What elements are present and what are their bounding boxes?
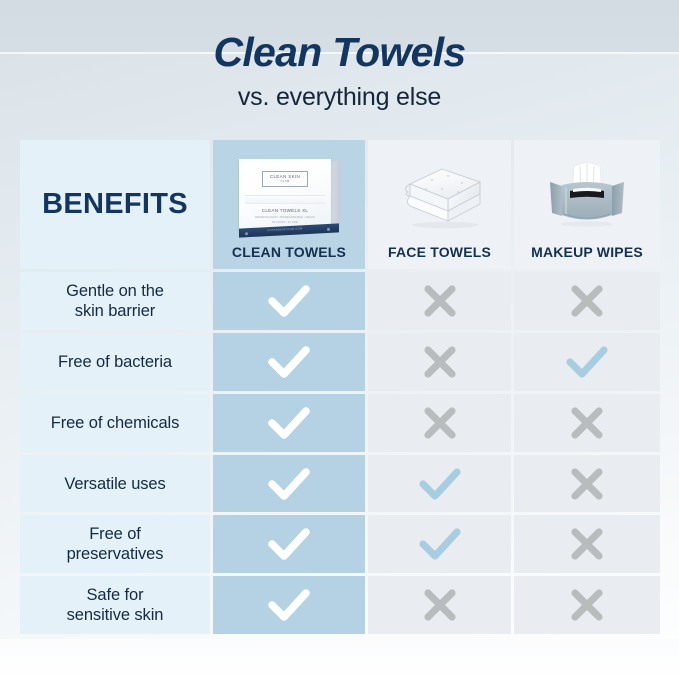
cross-grey-icon	[419, 584, 461, 626]
cell-makeup-wipes-row-2	[514, 333, 660, 394]
cell-makeup-wipes-row-3	[514, 394, 660, 455]
check-white-icon	[265, 585, 313, 625]
row-label-cell: Versatile uses	[20, 455, 213, 515]
check-white-icon	[265, 524, 313, 564]
column-header-face-towels: FACE TOWELS	[368, 140, 514, 272]
row-label-cell: Free of bacteria	[20, 333, 213, 394]
row-label-line1: Safe for	[87, 586, 144, 604]
cell-clean-towels-row-1	[213, 272, 368, 333]
cell-clean-towels-row-5	[213, 515, 368, 576]
page-subtitle: vs. everything else	[0, 80, 679, 114]
check-white-icon	[265, 403, 313, 443]
headline-block: Clean Towels vs. everything else	[0, 28, 679, 114]
column-label-makeup-wipes: MAKEUP WIPES	[531, 244, 643, 269]
check-white-icon	[265, 464, 313, 504]
check-blue-icon	[416, 464, 464, 504]
background-bottom-band	[0, 639, 679, 679]
row-label-line1: Free of chemicals	[51, 414, 180, 432]
row-label-text: Free of chemicals	[43, 413, 188, 433]
row-label-cell: Gentle on theskin barrier	[20, 272, 213, 333]
cell-makeup-wipes-row-6	[514, 576, 660, 634]
column-header-clean-towels: CLEAN SKIN CLUB CLEAN TOWELS XL DERMATOL…	[213, 140, 368, 272]
row-label-line2: skin barrier	[75, 302, 155, 320]
cross-grey-icon	[419, 280, 461, 322]
product-box-icon: CLEAN SKIN CLUB CLEAN TOWELS XL DERMATOL…	[213, 148, 365, 244]
folded-towels-icon	[368, 148, 511, 244]
cell-clean-towels-row-4	[213, 455, 368, 515]
row-label-text: Versatile uses	[56, 474, 173, 494]
cell-face-towels-row-4	[368, 455, 514, 515]
cross-grey-icon	[419, 341, 461, 383]
cross-grey-icon	[419, 402, 461, 444]
cell-makeup-wipes-row-4	[514, 455, 660, 515]
wipes-pack-icon	[514, 148, 660, 244]
cross-grey-icon	[566, 402, 608, 444]
page-title: Clean Towels	[0, 28, 679, 76]
cross-grey-icon	[566, 523, 608, 565]
column-header-makeup-wipes: MAKEUP WIPES	[514, 140, 660, 272]
row-label-line2: preservatives	[67, 545, 164, 563]
cell-face-towels-row-1	[368, 272, 514, 333]
row-label-cell: Free ofpreservatives	[20, 515, 213, 576]
check-blue-icon	[563, 342, 611, 382]
cell-makeup-wipes-row-5	[514, 515, 660, 576]
column-label-clean-towels: CLEAN TOWELS	[232, 244, 346, 269]
row-label-line1: Free of bacteria	[58, 353, 172, 371]
row-label-line1: Versatile uses	[64, 475, 165, 493]
cell-face-towels-row-3	[368, 394, 514, 455]
cell-clean-towels-row-2	[213, 333, 368, 394]
row-label-line1: Free of	[89, 525, 141, 543]
check-white-icon	[265, 342, 313, 382]
product-name: CLEAN TOWELS XL	[239, 208, 331, 213]
check-white-icon	[265, 281, 313, 321]
row-label-cell: Free of chemicals	[20, 394, 213, 455]
cross-grey-icon	[566, 584, 608, 626]
benefits-header-cell: BENEFITS	[20, 140, 213, 272]
row-label-text: Gentle on theskin barrier	[58, 281, 172, 321]
row-label-cell: Safe forsensitive skin	[20, 576, 213, 634]
row-label-text: Free of bacteria	[50, 352, 180, 372]
cell-face-towels-row-6	[368, 576, 514, 634]
cell-face-towels-row-5	[368, 515, 514, 576]
product-fine-print-1: DERMATOLOGIST • BIODEGRADABLE • VEGAN	[239, 216, 331, 219]
column-label-face-towels: FACE TOWELS	[388, 244, 491, 269]
product-logo-line2: CLUB	[281, 179, 290, 184]
cell-clean-towels-row-6	[213, 576, 368, 634]
row-label-line2: sensitive skin	[67, 606, 164, 624]
check-blue-icon	[416, 524, 464, 564]
benefits-label: BENEFITS	[42, 188, 188, 221]
cell-face-towels-row-2	[368, 333, 514, 394]
cell-makeup-wipes-row-1	[514, 272, 660, 333]
cross-grey-icon	[566, 463, 608, 505]
cell-clean-towels-row-3	[213, 394, 368, 455]
cross-grey-icon	[566, 280, 608, 322]
row-label-line1: Gentle on the	[66, 282, 164, 300]
row-label-text: Safe forsensitive skin	[59, 585, 172, 625]
row-label-text: Free ofpreservatives	[59, 524, 172, 564]
comparison-table: BENEFITS CLEAN SKIN CLUB CLEAN TOWELS XL…	[20, 140, 660, 634]
